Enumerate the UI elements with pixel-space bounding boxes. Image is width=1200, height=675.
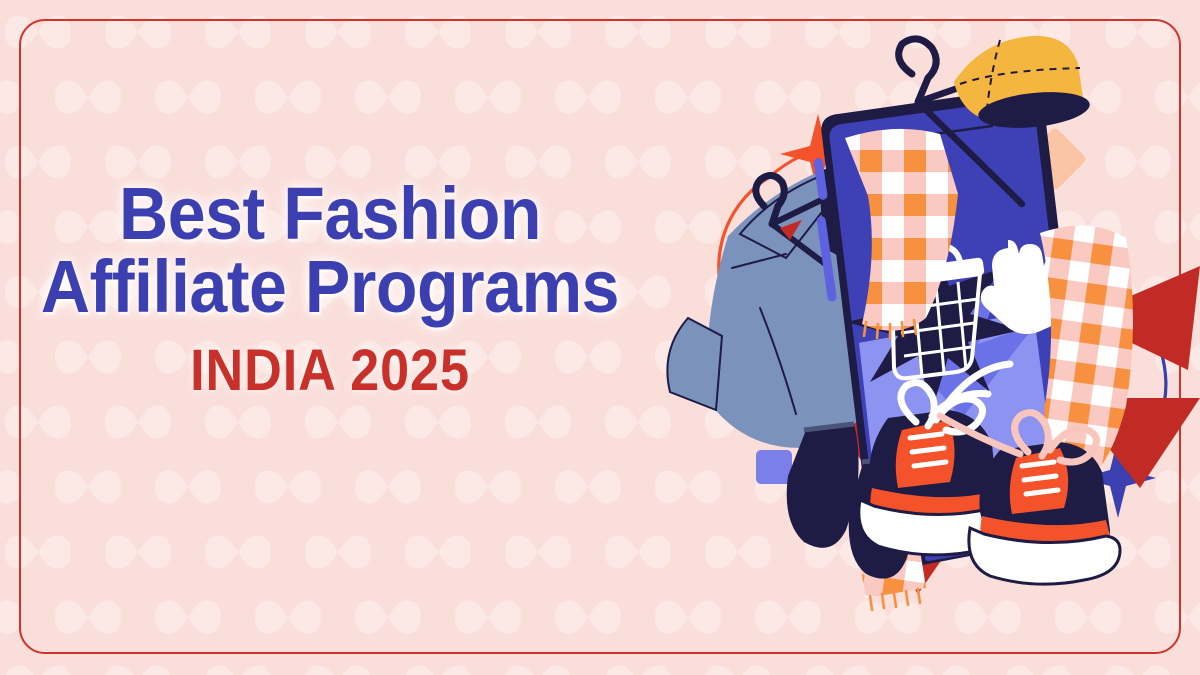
headline-line-2: Affiliate Programs — [26, 251, 633, 322]
promo-banner: Best Fashion Affiliate Programs INDIA 20… — [0, 0, 1200, 675]
headline-block: Best Fashion Affiliate Programs INDIA 20… — [0, 178, 660, 400]
jacket-sleeve — [667, 318, 722, 410]
fashion-ecommerce-illustration — [640, 18, 1200, 658]
headline-subtitle: INDIA 2025 — [33, 342, 627, 400]
square-blue — [756, 450, 792, 484]
headline-line-1: Best Fashion — [26, 178, 633, 249]
